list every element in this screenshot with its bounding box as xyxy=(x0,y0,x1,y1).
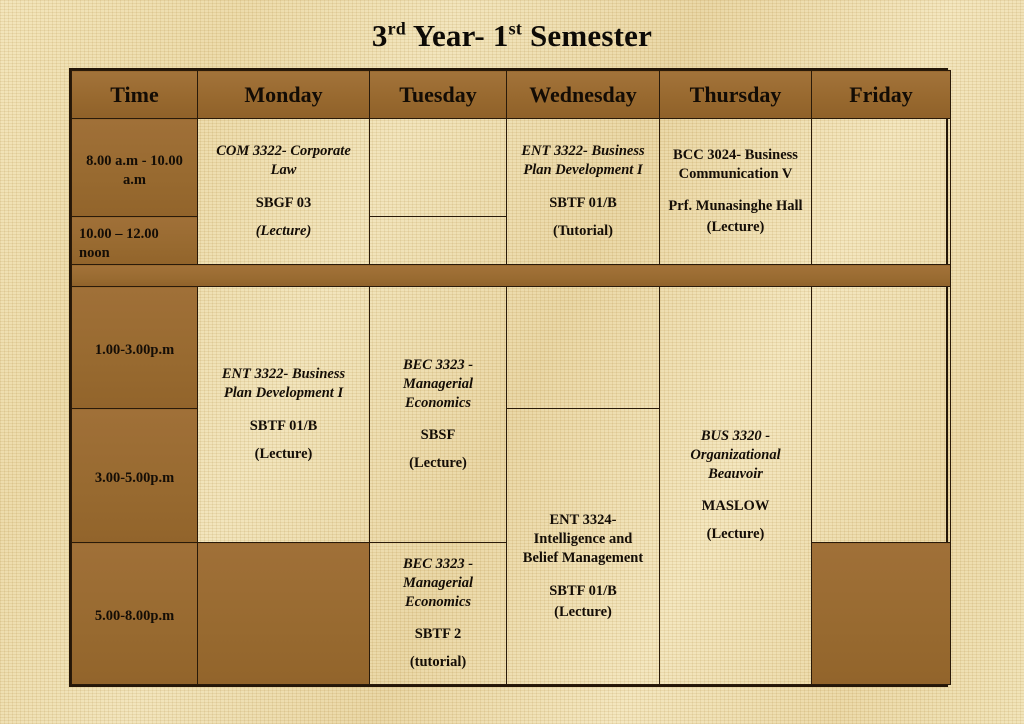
session-type: (tutorial) xyxy=(378,653,498,672)
session-type: (Lecture) xyxy=(668,218,803,237)
cell-thursday-morning[interactable]: BCC 3024- Business Communication V Prf. … xyxy=(660,119,812,265)
title-sem-suffix: st xyxy=(509,19,522,39)
venue: SBTF 2 xyxy=(378,625,498,644)
cell-tuesday-late-morning-empty[interactable] xyxy=(370,217,507,265)
session-type: (Lecture) xyxy=(378,454,498,473)
title-sem-number: 1 xyxy=(493,18,509,53)
page-title-wrapper: 3rd Year- 1st Semester xyxy=(0,18,1024,54)
column-header-thursday: Thursday xyxy=(660,71,812,119)
column-header-monday: Monday xyxy=(198,71,370,119)
cell-content: ENT 3322- Business Plan Development I SB… xyxy=(198,359,369,470)
time-slot-label: 5.00-8.00p.m xyxy=(72,601,197,625)
cell-friday-afternoon-empty[interactable] xyxy=(812,287,951,543)
time-slot-0800-1000: 8.00 a.m - 10.00 a.m xyxy=(72,119,198,217)
venue: SBTF 01/B xyxy=(206,417,361,436)
column-header-friday: Friday xyxy=(812,71,951,119)
timetable-body: 8.00 a.m - 10.00 a.m COM 3322- Corporate… xyxy=(72,119,951,685)
time-slot-label: 8.00 a.m - 10.00 a.m xyxy=(72,146,197,188)
section-spacer xyxy=(72,265,951,287)
course-title: BEC 3323 - Managerial Economics xyxy=(378,555,498,612)
cell-thursday-afternoon[interactable]: BUS 3320 - Organizational Beauvoir MASLO… xyxy=(660,287,812,685)
session-type: (Lecture) xyxy=(515,603,651,622)
time-slot-1000-1200: 10.00 – 12.00 noon xyxy=(72,217,198,265)
venue: SBTF 01/B xyxy=(515,582,651,601)
title-year-suffix: rd xyxy=(388,19,406,39)
cell-friday-evening-blocked[interactable] xyxy=(812,543,951,685)
cell-tuesday-afternoon[interactable]: BEC 3323 - Managerial Economics SBSF (Le… xyxy=(370,287,507,543)
course-title: COM 3322- Corporate Law xyxy=(206,142,361,180)
title-year-number: 3 xyxy=(372,18,388,53)
venue: SBGF 03 xyxy=(206,194,361,213)
time-slot-label: 3.00-5.00p.m xyxy=(72,463,197,487)
cell-content: BCC 3024- Business Communication V Prf. … xyxy=(660,140,811,244)
time-slot-0500-0800: 5.00-8.00p.m xyxy=(72,543,198,685)
cell-content: BEC 3323 - Managerial Economics SBSF (Le… xyxy=(370,350,506,480)
course-title: BUS 3320 - Organizational Beauvoir xyxy=(668,427,803,484)
venue: SBSF xyxy=(378,426,498,445)
timetable-frame: Time Monday Tuesday Wednesday Thursday F… xyxy=(69,68,948,687)
header-row: Time Monday Tuesday Wednesday Thursday F… xyxy=(72,71,951,119)
column-header-time: Time xyxy=(72,71,198,119)
title-sem-word: Semester xyxy=(530,18,652,53)
course-title: ENT 3324- Intelligence and Belief Manage… xyxy=(515,511,651,568)
timetable-header: Time Monday Tuesday Wednesday Thursday F… xyxy=(72,71,951,119)
cell-tuesday-morning-empty[interactable] xyxy=(370,119,507,217)
session-type: (Tutorial) xyxy=(515,222,651,241)
course-title: BEC 3323 - Managerial Economics xyxy=(378,356,498,413)
cell-monday-morning[interactable]: COM 3322- Corporate Law SBGF 03 (Lecture… xyxy=(198,119,370,265)
cell-content: BEC 3323 - Managerial Economics SBTF 2 (… xyxy=(370,549,506,679)
cell-monday-evening-blocked[interactable] xyxy=(198,543,370,685)
cell-monday-afternoon[interactable]: ENT 3322- Business Plan Development I SB… xyxy=(198,287,370,543)
column-header-tuesday: Tuesday xyxy=(370,71,507,119)
time-slot-0300-0500: 3.00-5.00p.m xyxy=(72,409,198,543)
cell-wednesday-morning[interactable]: ENT 3322- Business Plan Development I SB… xyxy=(507,119,660,265)
cell-wednesday-afternoon-empty[interactable] xyxy=(507,287,660,409)
course-title: ENT 3322- Business Plan Development I xyxy=(515,142,651,180)
cell-content: ENT 3324- Intelligence and Belief Manage… xyxy=(507,465,659,628)
cell-wednesday-evening[interactable]: ENT 3324- Intelligence and Belief Manage… xyxy=(507,409,660,685)
section-spacer-row xyxy=(72,265,951,287)
timetable: Time Monday Tuesday Wednesday Thursday F… xyxy=(71,70,951,685)
time-slot-label: 10.00 – 12.00 noon xyxy=(72,219,197,261)
column-header-wednesday: Wednesday xyxy=(507,71,660,119)
time-slot-label: 1.00-3.00p.m xyxy=(72,335,197,359)
venue: Prf. Munasinghe Hall xyxy=(668,197,803,216)
course-title: ENT 3322- Business Plan Development I xyxy=(206,365,361,403)
page-title: 3rd Year- 1st Semester xyxy=(372,18,652,54)
session-type: (Lecture) xyxy=(668,525,803,544)
cell-tuesday-evening[interactable]: BEC 3323 - Managerial Economics SBTF 2 (… xyxy=(370,543,507,685)
session-type: (Lecture) xyxy=(206,222,361,241)
cell-content: BUS 3320 - Organizational Beauvoir MASLO… xyxy=(660,421,811,551)
cell-friday-morning-empty[interactable] xyxy=(812,119,951,265)
table-row: 1.00-3.00p.m ENT 3322- Business Plan Dev… xyxy=(72,287,951,409)
venue: MASLOW xyxy=(668,497,803,516)
session-type: (Lecture) xyxy=(206,445,361,464)
timetable-page: 3rd Year- 1st Semester Time Monday Tuesd… xyxy=(0,0,1024,724)
course-title: BCC 3024- Business Communication V xyxy=(668,146,803,184)
cell-content: ENT 3322- Business Plan Development I SB… xyxy=(507,136,659,247)
cell-content: COM 3322- Corporate Law SBGF 03 (Lecture… xyxy=(198,136,369,247)
venue: SBTF 01/B xyxy=(515,194,651,213)
time-slot-0100-0300: 1.00-3.00p.m xyxy=(72,287,198,409)
table-row: 8.00 a.m - 10.00 a.m COM 3322- Corporate… xyxy=(72,119,951,217)
title-year-word: Year- xyxy=(413,18,485,53)
